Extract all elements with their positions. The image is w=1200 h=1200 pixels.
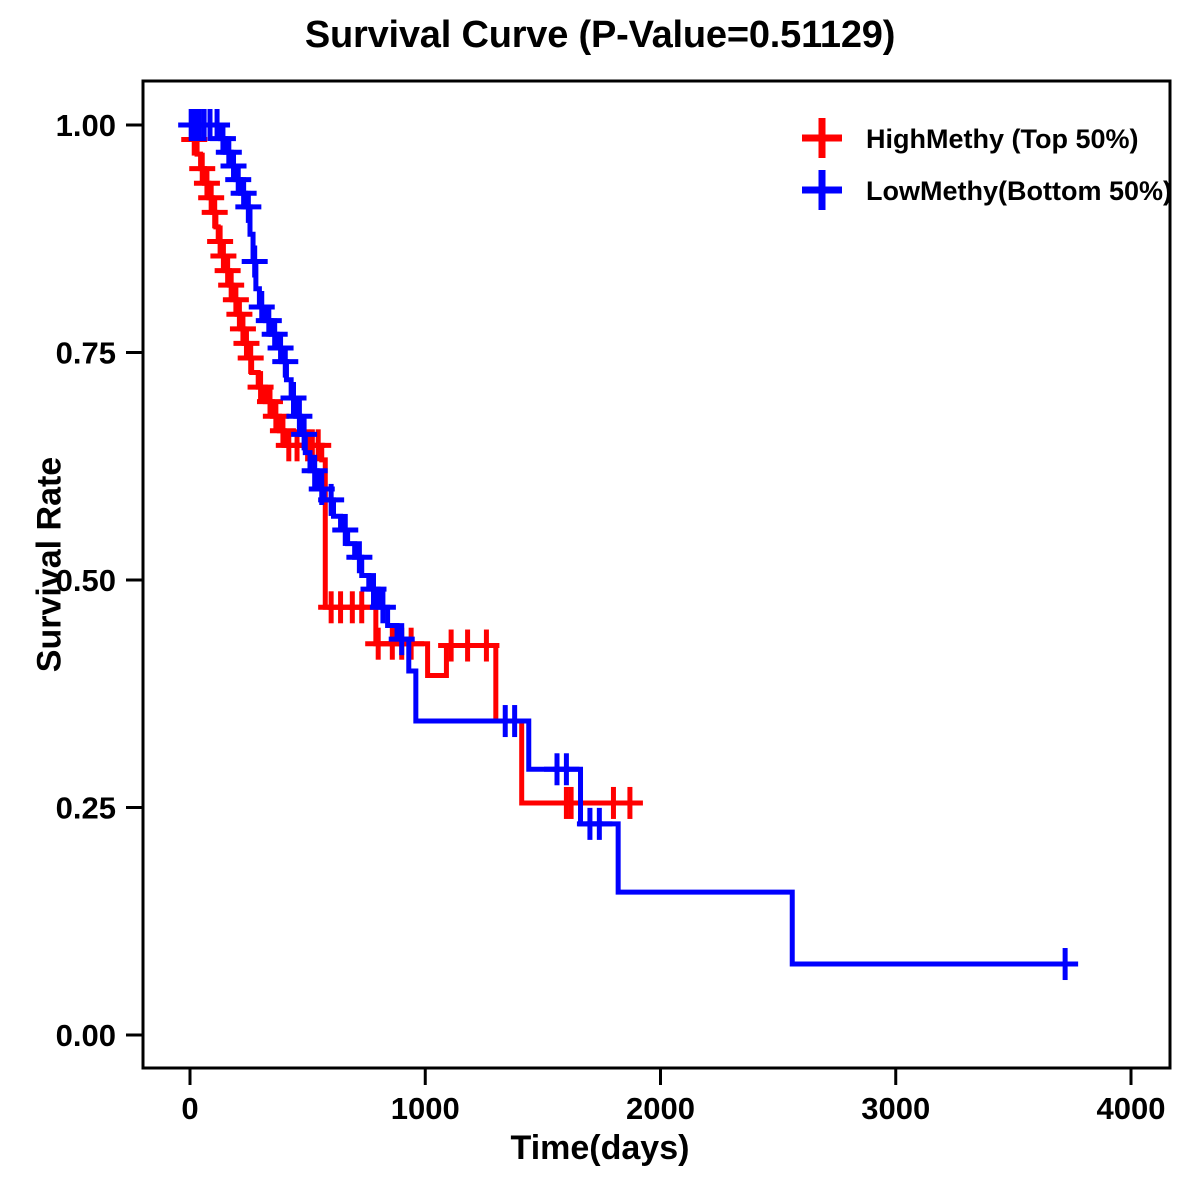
km-step-line	[190, 125, 632, 803]
y-tick-label: 0.50	[56, 563, 116, 598]
x-tick-label: 4000	[1097, 1091, 1166, 1126]
survival-curve-figure: Survival Curve (P-Value=0.51129) Surviva…	[0, 0, 1200, 1200]
x-axis-ticks: 01000200030004000	[181, 1068, 1165, 1126]
censor-marks	[178, 109, 1078, 980]
x-tick-label: 1000	[391, 1091, 460, 1126]
y-tick-label: 1.00	[56, 108, 116, 143]
series-layer	[178, 109, 1078, 980]
y-tick-label: 0.00	[56, 1018, 116, 1053]
series-low-methy	[178, 109, 1078, 980]
y-axis-ticks: 0.000.250.500.751.00	[56, 108, 143, 1053]
y-tick-label: 0.25	[56, 791, 116, 826]
plot-frame	[143, 81, 1170, 1068]
legend-label: LowMethy(Bottom 50%)	[866, 176, 1172, 206]
x-tick-label: 2000	[626, 1091, 695, 1126]
chart-legend: HighMethy (Top 50%)LowMethy(Bottom 50%)	[802, 118, 1172, 210]
x-tick-label: 0	[181, 1091, 198, 1126]
y-tick-label: 0.75	[56, 336, 116, 371]
km-step-line	[190, 125, 1070, 964]
legend-item-low-methy[interactable]: LowMethy(Bottom 50%)	[802, 170, 1172, 210]
plot-canvas: 01000200030004000 0.000.250.500.751.00 H…	[0, 0, 1200, 1200]
x-tick-label: 3000	[861, 1091, 930, 1126]
legend-item-high-methy[interactable]: HighMethy (Top 50%)	[802, 118, 1139, 158]
legend-label: HighMethy (Top 50%)	[866, 124, 1139, 154]
